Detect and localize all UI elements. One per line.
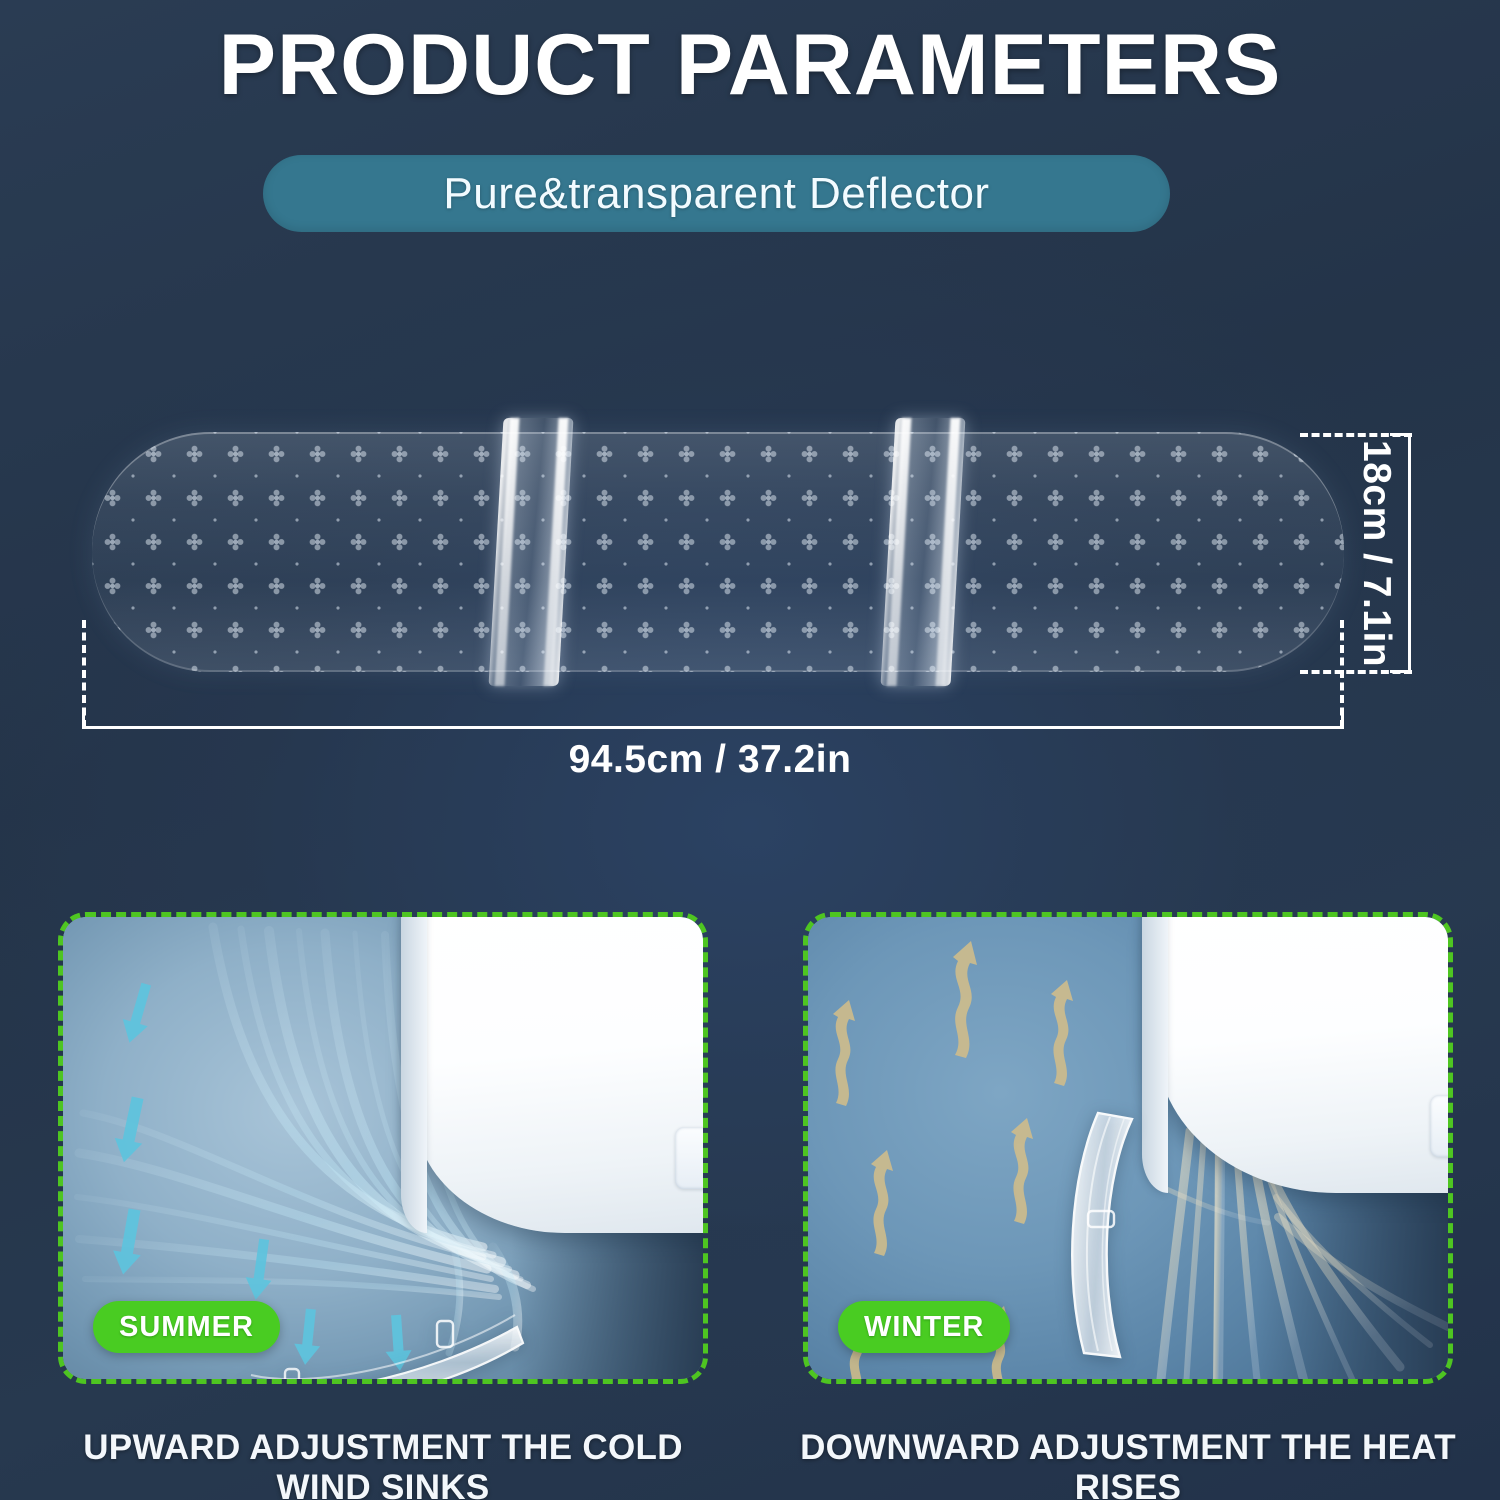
deflector-clip-left: [489, 418, 574, 686]
infographic-canvas: PRODUCT PARAMETERS Pure&transparent Defl…: [0, 0, 1500, 1500]
dim-width-line: [82, 726, 1344, 729]
badge-winter: WINTER: [838, 1301, 1010, 1353]
caption-summer: UPWARD ADJUSTMENT THE COLD WIND SINKS: [33, 1428, 733, 1500]
deflector-clip-right: [881, 418, 966, 686]
deflector-quatrefoil-texture: [92, 432, 1344, 672]
panel-summer: SUMMER: [58, 912, 708, 1384]
dimension-height-label: 18cm / 7.1in: [1354, 440, 1398, 690]
dim-width-cap-right: [1341, 708, 1344, 728]
dim-width-cap-left: [82, 708, 85, 728]
badge-summer: SUMMER: [93, 1301, 280, 1353]
panel-summer-scene: SUMMER: [63, 917, 703, 1379]
dim-height-line: [1408, 433, 1411, 673]
caption-winter: DOWNWARD ADJUSTMENT THE HEAT RISES: [778, 1428, 1478, 1500]
panel-winter: WINTER: [803, 912, 1453, 1384]
deflector-body: [92, 432, 1344, 672]
ac-unit-button: [675, 1127, 703, 1189]
panel-winter-scene: WINTER: [808, 917, 1448, 1379]
ac-unit-button: [1430, 1095, 1448, 1157]
product-diagram: 18cm / 7.1in 94.5cm / 37.2in: [0, 0, 1500, 820]
deflector-installed-winter: [1058, 1107, 1178, 1367]
dimension-width-label: 94.5cm / 37.2in: [0, 738, 1420, 782]
ac-unit: [415, 917, 703, 1233]
ac-unit-left-edge: [401, 917, 427, 1233]
dim-height-cap-top: [1390, 433, 1410, 436]
